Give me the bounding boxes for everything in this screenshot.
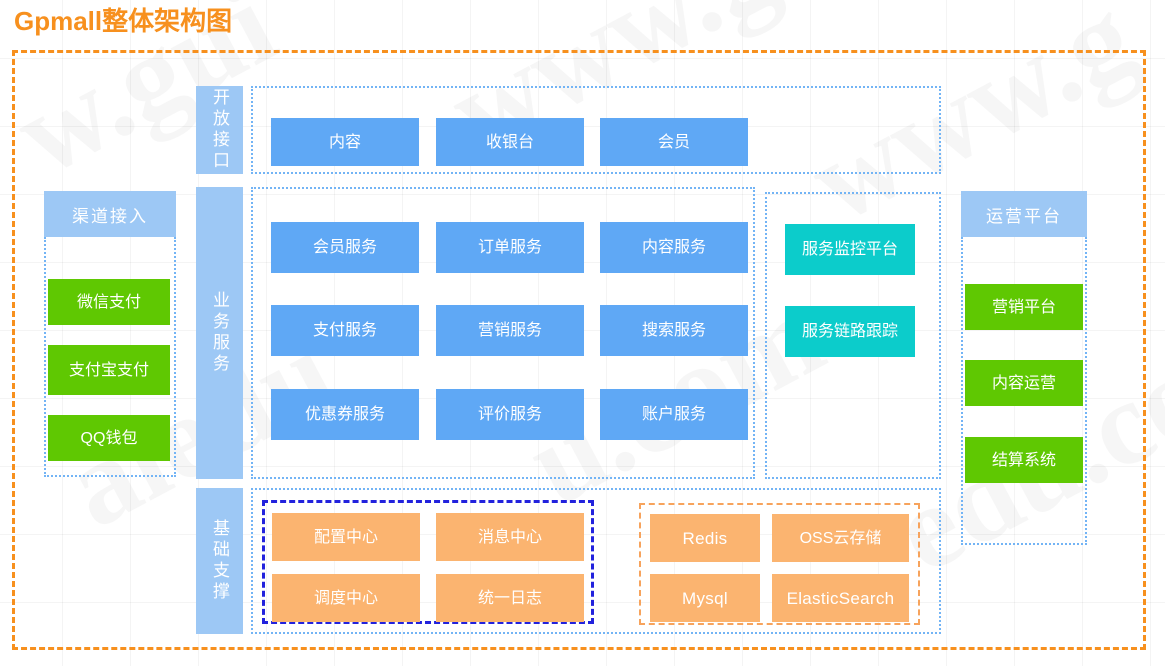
channel-tile-alipay[interactable]: 支付宝支付 [48,345,170,395]
business-service-label: 业务服务 [196,187,243,479]
infra-tile-mysql[interactable]: Mysql [650,574,760,622]
infra-tile-unified-log[interactable]: 统一日志 [436,574,584,622]
channel-tile-wechat-pay[interactable]: 微信支付 [48,279,170,325]
infra-tile-config-center[interactable]: 配置中心 [272,513,420,561]
channel-tile-qq-wallet[interactable]: QQ钱包 [48,415,170,461]
infrastructure-label: 基础支撑 [196,488,243,634]
monitoring-tile-service-trace[interactable]: 服务链路跟踪 [785,306,915,357]
monitoring-tile-service-monitor[interactable]: 服务监控平台 [785,224,915,275]
business-tile-content-service[interactable]: 内容服务 [600,222,748,273]
infra-tile-elasticsearch[interactable]: ElasticSearch [772,574,909,622]
infra-tile-scheduler-center[interactable]: 调度中心 [272,574,420,622]
business-tile-coupon-service[interactable]: 优惠券服务 [271,389,419,440]
infra-tile-message-center[interactable]: 消息中心 [436,513,584,561]
operation-tile-marketing-platform[interactable]: 营销平台 [965,284,1083,330]
business-tile-order-service[interactable]: 订单服务 [436,222,584,273]
business-tile-marketing-service[interactable]: 营销服务 [436,305,584,356]
channel-access-label: 渠道接入 [44,191,176,237]
operation-platform-label: 运营平台 [961,191,1087,237]
open-interface-tile-cashier[interactable]: 收银台 [436,118,584,166]
operation-tile-content-operation[interactable]: 内容运营 [965,360,1083,406]
operation-tile-settlement-system[interactable]: 结算系统 [965,437,1083,483]
page-title: Gpmall整体架构图 [14,4,232,38]
business-tile-account-service[interactable]: 账户服务 [600,389,748,440]
infra-tile-redis[interactable]: Redis [650,514,760,562]
open-interface-label: 开放接口 [196,86,243,174]
open-interface-tile-content[interactable]: 内容 [271,118,419,166]
open-interface-tile-member[interactable]: 会员 [600,118,748,166]
business-tile-member-service[interactable]: 会员服务 [271,222,419,273]
infra-tile-oss-storage[interactable]: OSS云存储 [772,514,909,562]
business-tile-payment-service[interactable]: 支付服务 [271,305,419,356]
business-tile-search-service[interactable]: 搜索服务 [600,305,748,356]
business-tile-review-service[interactable]: 评价服务 [436,389,584,440]
